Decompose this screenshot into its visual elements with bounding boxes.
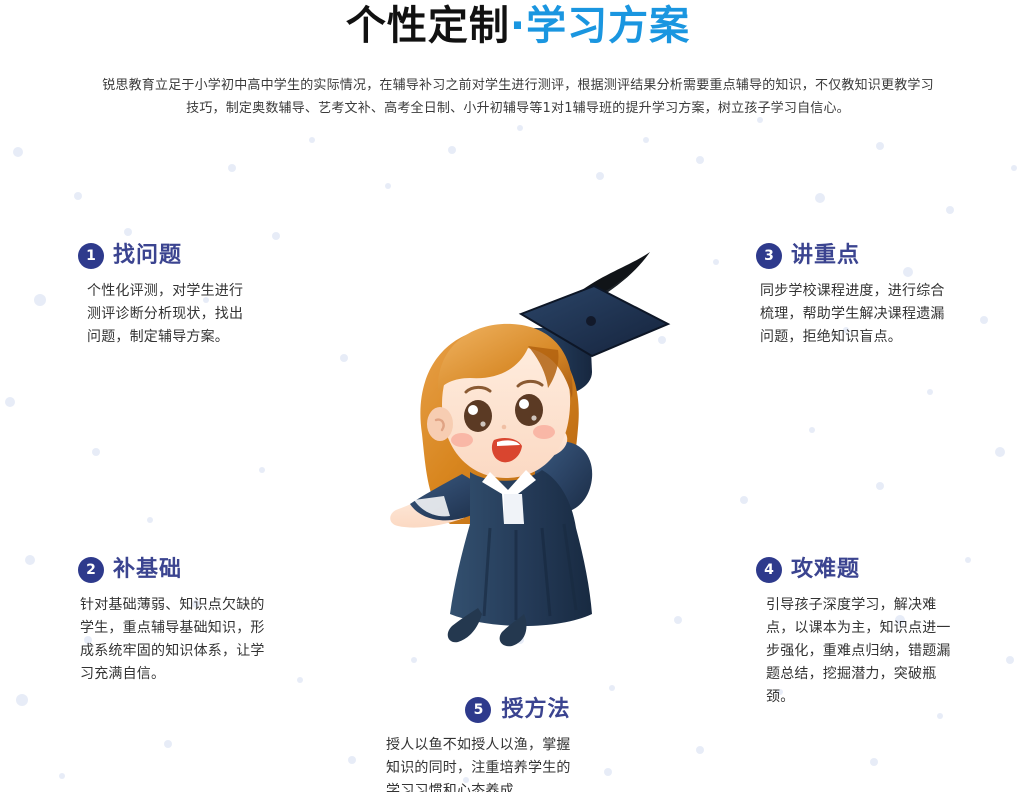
feature-item-1[interactable]: 1 找问题 个性化评测，对学生进行 测评诊断分析现状，找出 问题，制定辅导方案。 bbox=[78, 243, 310, 349]
feature-1-title: 找问题 bbox=[113, 243, 182, 269]
feature-2-title: 补基础 bbox=[113, 557, 182, 583]
page-title: 个性定制·学习方案 bbox=[0, 2, 1036, 50]
feature-3-number-badge: 3 bbox=[756, 243, 782, 269]
page-header: 个性定制·学习方案 锐思教育立足于小学初中高中学生的实际情况，在辅导补习之前对学… bbox=[0, 0, 1036, 120]
feature-3-body: 同步学校课程进度，进行综合 梳理，帮助学生解决课程遗漏 问题，拒绝知识盲点。 bbox=[756, 280, 996, 349]
page-title-separator: · bbox=[510, 3, 526, 49]
feature-2-body: 针对基础薄弱、知识点欠缺的 学生，重点辅导基础知识，形 成系统牢固的知识体系，让… bbox=[78, 594, 314, 686]
feature-1-body: 个性化评测，对学生进行 测评诊断分析现状，找出 问题，制定辅导方案。 bbox=[78, 280, 310, 349]
feature-4-title: 攻难题 bbox=[791, 557, 860, 583]
feature-4-number-badge: 4 bbox=[756, 557, 782, 583]
feature-4-body: 引导孩子深度学习，解决难 点，以课本为主，知识点进一 步强化，重难点归纳，错题漏… bbox=[756, 594, 1000, 709]
feature-3-head: 3 讲重点 bbox=[756, 243, 996, 269]
feature-item-2[interactable]: 2 补基础 针对基础薄弱、知识点欠缺的 学生，重点辅导基础知识，形 成系统牢固的… bbox=[78, 557, 314, 686]
feature-item-4[interactable]: 4 攻难题 引导孩子深度学习，解决难 点，以课本为主，知识点进一 步强化，重难点… bbox=[756, 557, 1000, 709]
feature-2-number-badge: 2 bbox=[78, 557, 104, 583]
feature-5-title: 授方法 bbox=[501, 697, 570, 723]
feature-2-head: 2 补基础 bbox=[78, 557, 314, 583]
feature-1-number-badge: 1 bbox=[78, 243, 104, 269]
graduate-girl-illustration bbox=[378, 228, 678, 648]
feature-5-number-badge: 5 bbox=[465, 697, 491, 723]
feature-item-5[interactable]: 5 授方法 授人以鱼不如授人以渔，掌握 知识的同时，注重培养学生的 学习习惯和心… bbox=[382, 697, 654, 792]
feature-3-title: 讲重点 bbox=[791, 243, 860, 269]
page-subtitle: 锐思教育立足于小学初中高中学生的实际情况，在辅导补习之前对学生进行测评，根据测评… bbox=[98, 74, 938, 120]
feature-5-head: 5 授方法 bbox=[382, 697, 654, 723]
page-root: 个性定制·学习方案 锐思教育立足于小学初中高中学生的实际情况，在辅导补习之前对学… bbox=[0, 0, 1036, 792]
page-title-primary: 个性定制 bbox=[346, 3, 510, 49]
feature-5-body: 授人以鱼不如授人以渔，掌握 知识的同时，注重培养学生的 学习习惯和心态养成 bbox=[382, 734, 654, 792]
feature-1-head: 1 找问题 bbox=[78, 243, 310, 269]
feature-item-3[interactable]: 3 讲重点 同步学校课程进度，进行综合 梳理，帮助学生解决课程遗漏 问题，拒绝知… bbox=[756, 243, 996, 349]
page-title-accent: 学习方案 bbox=[526, 3, 690, 49]
feature-4-head: 4 攻难题 bbox=[756, 557, 1000, 583]
